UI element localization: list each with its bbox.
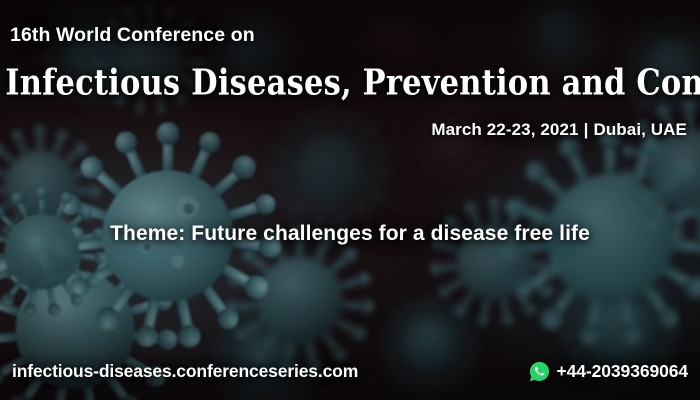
conference-edition-label: 16th World Conference on [10,24,255,47]
whatsapp-contact[interactable]: +44-2039369064 [529,361,688,382]
date-and-venue: March 22-23, 2021|Dubai, UAE [431,120,687,140]
banner-content: 16th World Conference on Infectious Dise… [0,0,700,400]
conference-banner: 16th World Conference on Infectious Dise… [0,0,700,400]
conference-date: March 22-23, 2021 [431,120,578,139]
conference-title: Infectious Diseases, Prevention and Cont… [5,62,695,104]
date-venue-separator: | [579,120,594,140]
conference-theme: Theme: Future challenges for a disease f… [0,222,700,246]
conference-venue: Dubai, UAE [593,120,687,139]
website-url-link[interactable]: infectious-diseases.conferenceseries.com [12,361,358,382]
whatsapp-icon [529,361,550,382]
phone-number[interactable]: +44-2039369064 [557,361,688,382]
banner-footer: infectious-diseases.conferenceseries.com… [0,356,700,386]
